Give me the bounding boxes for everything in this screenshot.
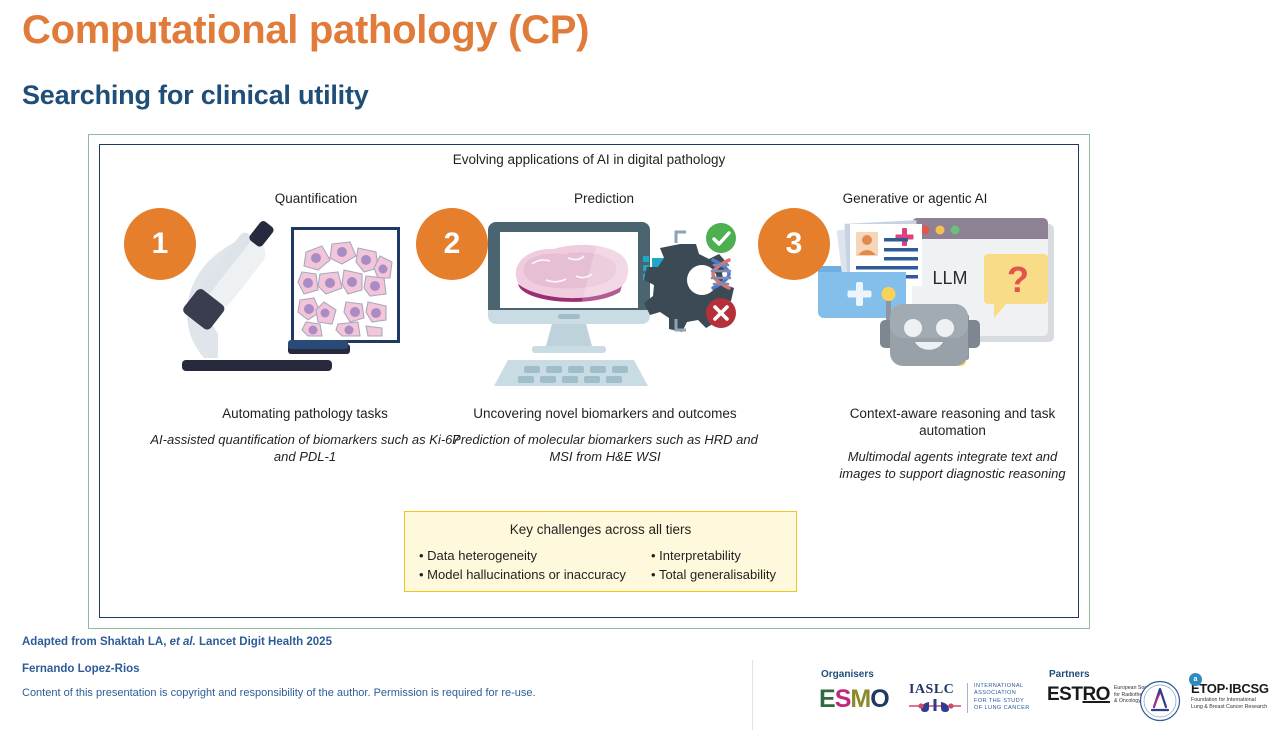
page-subtitle: Searching for clinical utility xyxy=(22,80,369,111)
tier-badge-3: 3 xyxy=(758,208,830,280)
iaslc-logo: IASLC INTERNATIONAL ASSOCIATION FOR THE … xyxy=(909,682,1039,722)
iaslc-fullname: INTERNATIONAL ASSOCIATION FOR THE STUDY … xyxy=(967,683,1030,713)
caption-title-2: Uncovering novel biomarkers and outcomes xyxy=(450,405,760,422)
column-quantification: Quantification xyxy=(150,190,440,208)
author-name: Fernando Lopez-Rios xyxy=(22,663,140,675)
caption-2: Uncovering novel biomarkers and outcomes… xyxy=(450,405,760,465)
key-challenges-title: Key challenges across all tiers xyxy=(405,522,796,537)
column-heading-3: Generative or agentic AI xyxy=(745,190,1075,208)
tier-badge-1: 1 xyxy=(124,208,196,280)
robot-llm-records-icon: LLM ? xyxy=(812,210,1062,395)
source-prefix: Adapted from Shaktah LA, xyxy=(22,636,166,648)
page-title: Computational pathology (CP) xyxy=(22,8,589,53)
column-prediction: Prediction xyxy=(440,190,730,208)
challenge-item: Interpretability xyxy=(651,546,776,565)
logo-strip: Organisers Partners ESMO IASLC INTERNATI… xyxy=(752,660,1270,730)
etop-tagline: Foundation for International Lung & Brea… xyxy=(1191,697,1270,711)
estro-wordmark: ESTRO xyxy=(1047,684,1110,706)
esmo-e: E xyxy=(819,687,835,712)
caption-3: Context-aware reasoning and task automat… xyxy=(830,405,1075,482)
caption-title-3: Context-aware reasoning and task automat… xyxy=(830,405,1075,439)
esmo-m: M xyxy=(850,687,870,712)
llm-label: LLM xyxy=(932,268,967,288)
key-challenges-box: Key challenges across all tiers Data het… xyxy=(404,511,797,592)
challenge-item: Total generalisability xyxy=(651,565,776,584)
figure-header: Evolving applications of AI in digital p… xyxy=(99,152,1079,167)
source-suffix: Lancet Digit Health 2025 xyxy=(199,636,332,648)
challenges-list-right: Interpretability Total generalisability xyxy=(651,546,776,584)
caption-sub-3: Multimodal agents integrate text and ima… xyxy=(830,448,1075,482)
esmo-s: S xyxy=(835,687,851,712)
caption-title-1: Automating pathology tasks xyxy=(150,405,460,422)
iaslc-lungs-icon xyxy=(909,698,961,714)
column-heading-2: Prediction xyxy=(440,190,730,208)
partners-label: Partners xyxy=(1049,669,1090,680)
etop-ibcsg-logo: a ETOP·IBCSG Foundation for Internationa… xyxy=(1191,681,1270,711)
challenge-item: Model hallucinations or inaccuracy xyxy=(419,565,651,584)
tier-badge-2: 2 xyxy=(416,208,488,280)
challenge-item: Data heterogeneity xyxy=(419,546,651,565)
source-etal: et al. xyxy=(170,636,196,648)
esmo-o: O xyxy=(870,687,888,712)
organisers-label: Organisers xyxy=(821,669,874,680)
column-heading-1: Quantification xyxy=(150,190,440,208)
caption-sub-2: Prediction of molecular biomarkers such … xyxy=(450,431,760,465)
csco-logo xyxy=(1139,680,1181,722)
challenges-list-left: Data heterogeneity Model hallucinations … xyxy=(419,546,651,584)
column-generative-ai: Generative or agentic AI xyxy=(745,190,1075,208)
source-citation: Adapted from Shaktah LA, et al. Lancet D… xyxy=(22,636,332,648)
copyright-notice: Content of this presentation is copyrigh… xyxy=(22,687,536,699)
slide-root: Computational pathology (CP) Searching f… xyxy=(0,0,1270,730)
microscope-slide-icon xyxy=(160,218,410,388)
caption-1: Automating pathology tasks AI-assisted q… xyxy=(150,405,460,465)
esmo-logo: ESMO xyxy=(819,686,889,712)
monitor-gear-dna-icon xyxy=(480,218,740,398)
svg-text:?: ? xyxy=(1007,259,1029,300)
etop-wordmark: ETOP·IBCSG xyxy=(1191,681,1270,696)
caption-sub-1: AI-assisted quantification of biomarkers… xyxy=(150,431,460,465)
etop-dot-icon: a xyxy=(1189,673,1202,686)
